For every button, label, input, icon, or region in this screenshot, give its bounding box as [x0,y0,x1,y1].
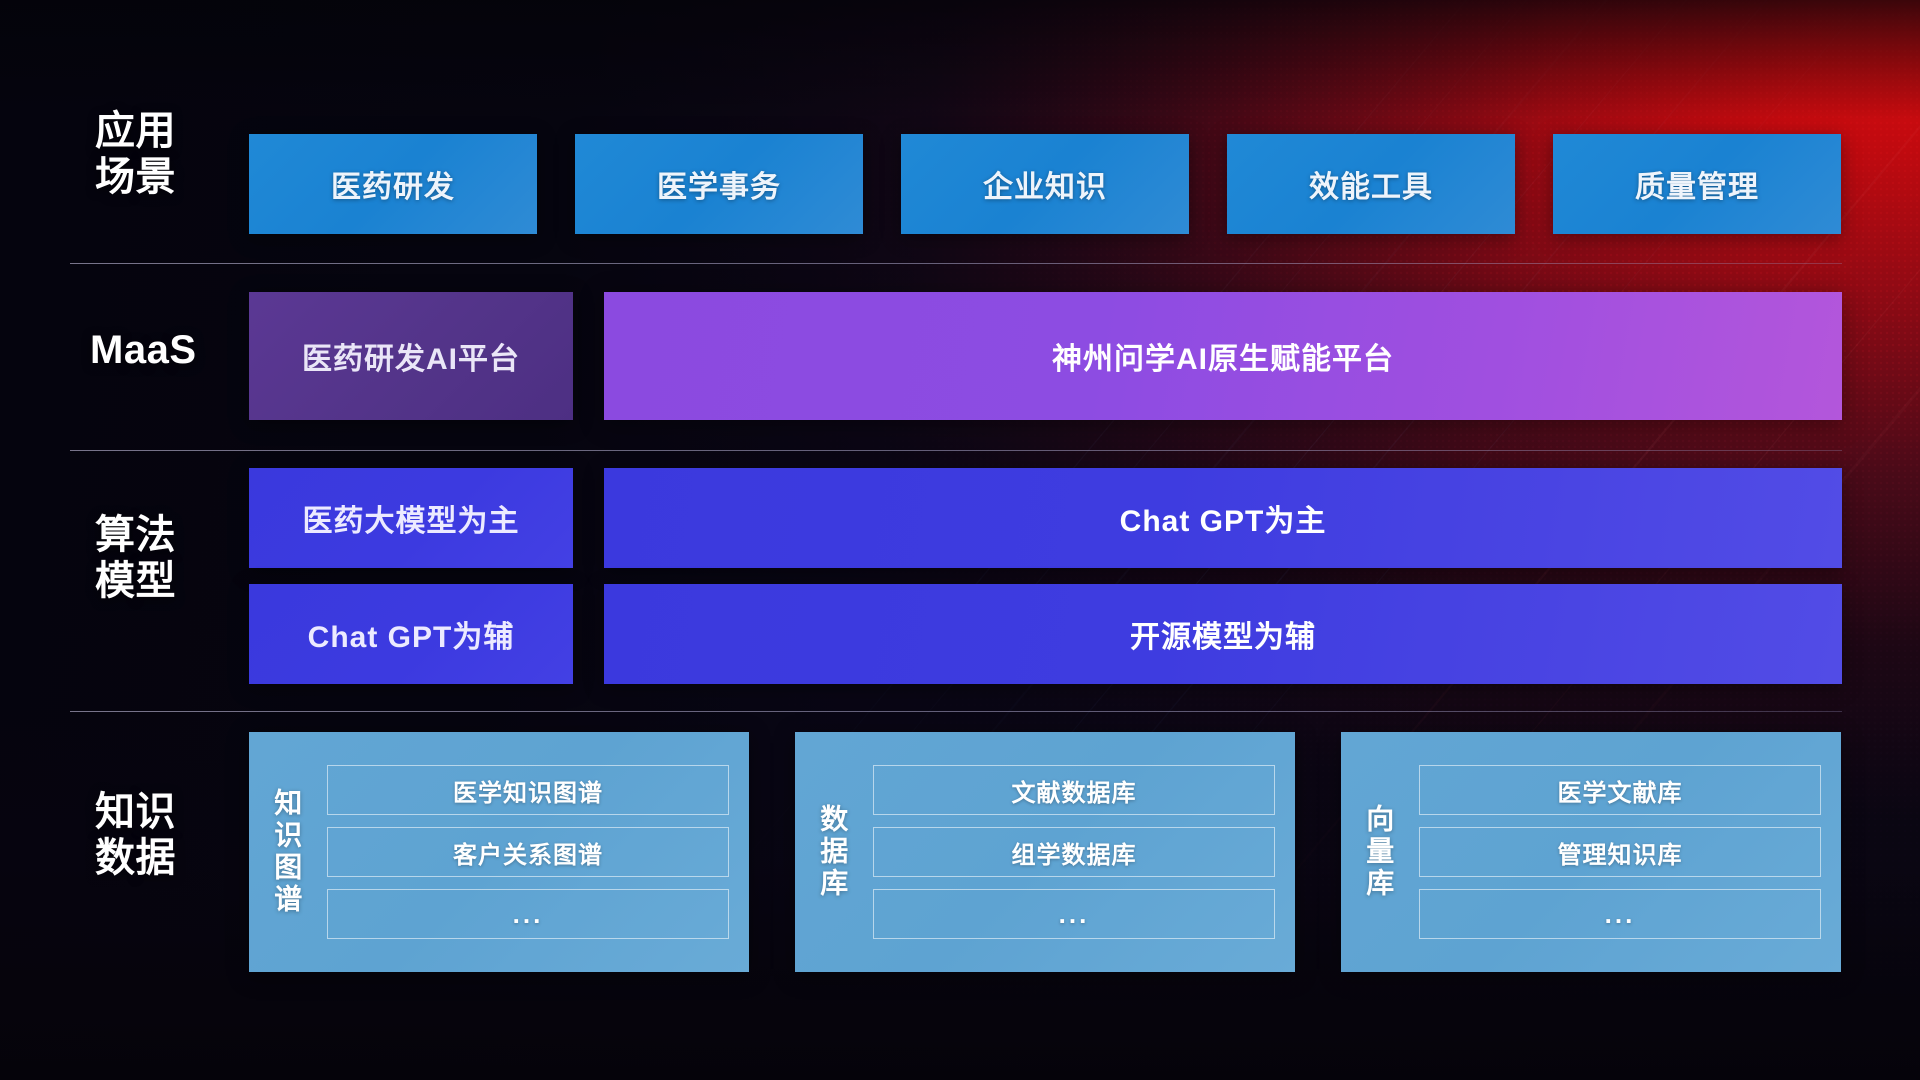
maas-platform-box-right[interactable]: 神州问学AI原生赋能平台 [604,292,1842,420]
row-label-algorithm-line2: 模型 [95,558,255,604]
slide-canvas: 应用 场景 医药研发 医学事务 企业知识 效能工具 质量管理 MaaS 医药研发… [0,0,1920,1080]
app-box-2-label: 医学事务 [657,162,781,206]
knowledge-panel-vector-item-1[interactable]: 医学文献库 [1419,765,1821,815]
knowledge-panel-vector-item-2-label: 管理知识库 [1558,835,1683,870]
row-label-knowledge-line1: 知识 [95,789,255,835]
knowledge-panel-graph-item-1[interactable]: 医学知识图谱 [327,765,729,815]
row-label-knowledge: 知识 数据 [95,789,255,882]
knowledge-panel-graph-item-2-label: 客户关系图谱 [453,835,603,870]
row-label-application: 应用 场景 [95,108,245,201]
maas-platform-left-label: 医药研发AI平台 [302,334,520,378]
knowledge-panel-database-item-3-label: ... [1059,899,1090,930]
knowledge-panel-vector-item-1-label: 医学文献库 [1558,773,1683,808]
algorithm-left-label-row2: Chat GPT为辅 [308,612,515,656]
knowledge-panel-database-item-3[interactable]: ... [873,889,1275,939]
algorithm-right-label-row2: 开源模型为辅 [1130,612,1316,656]
knowledge-panel-graph-item-3[interactable]: ... [327,889,729,939]
knowledge-panel-database-item-2-label: 组学数据库 [1012,835,1137,870]
row-label-algorithm: 算法 模型 [95,512,255,605]
knowledge-panel-database-title: 数据库 [795,804,869,900]
maas-platform-box-left[interactable]: 医药研发AI平台 [249,292,573,420]
divider-application-maas [70,263,1842,264]
row-label-algorithm-line1: 算法 [95,512,255,558]
knowledge-panel-vector[interactable]: 向量库 医学文献库 管理知识库 ... [1341,732,1841,972]
algorithm-right-label-row1: Chat GPT为主 [1120,496,1327,540]
algorithm-right-box-row2[interactable]: 开源模型为辅 [604,584,1842,684]
divider-algorithm-knowledge [70,711,1842,712]
knowledge-panel-vector-title: 向量库 [1341,804,1415,900]
knowledge-panel-graph-title: 知识图谱 [249,788,323,916]
algorithm-left-box-row2[interactable]: Chat GPT为辅 [249,584,573,684]
algorithm-left-box-row1[interactable]: 医药大模型为主 [249,468,573,568]
algorithm-left-label-row1: 医药大模型为主 [303,496,520,540]
app-box-5-label: 质量管理 [1635,162,1759,206]
knowledge-panel-database[interactable]: 数据库 文献数据库 组学数据库 ... [795,732,1295,972]
knowledge-panel-graph-item-2[interactable]: 客户关系图谱 [327,827,729,877]
knowledge-panel-vector-item-3[interactable]: ... [1419,889,1821,939]
knowledge-panel-graph-item-3-label: ... [513,899,544,930]
app-box-1[interactable]: 医药研发 [249,134,537,234]
app-box-3[interactable]: 企业知识 [901,134,1189,234]
knowledge-panel-database-item-1[interactable]: 文献数据库 [873,765,1275,815]
divider-maas-algorithm [70,450,1842,451]
row-label-knowledge-line2: 数据 [95,835,255,881]
app-box-1-label: 医药研发 [331,162,455,206]
knowledge-panel-vector-item-2[interactable]: 管理知识库 [1419,827,1821,877]
algorithm-right-box-row1[interactable]: Chat GPT为主 [604,468,1842,568]
app-box-4[interactable]: 效能工具 [1227,134,1515,234]
knowledge-panel-database-item-1-label: 文献数据库 [1012,773,1137,808]
row-label-application-line2: 场景 [95,154,245,200]
app-box-2[interactable]: 医学事务 [575,134,863,234]
knowledge-panel-graph-item-1-label: 医学知识图谱 [453,773,603,808]
knowledge-panel-database-item-2[interactable]: 组学数据库 [873,827,1275,877]
row-label-application-line1: 应用 [95,108,245,154]
knowledge-panel-graph[interactable]: 知识图谱 医学知识图谱 客户关系图谱 ... [249,732,749,972]
knowledge-panel-vector-item-3-label: ... [1605,899,1636,930]
app-box-4-label: 效能工具 [1309,162,1433,206]
maas-platform-right-label: 神州问学AI原生赋能平台 [1052,334,1394,378]
app-box-3-label: 企业知识 [983,162,1107,206]
app-box-5[interactable]: 质量管理 [1553,134,1841,234]
